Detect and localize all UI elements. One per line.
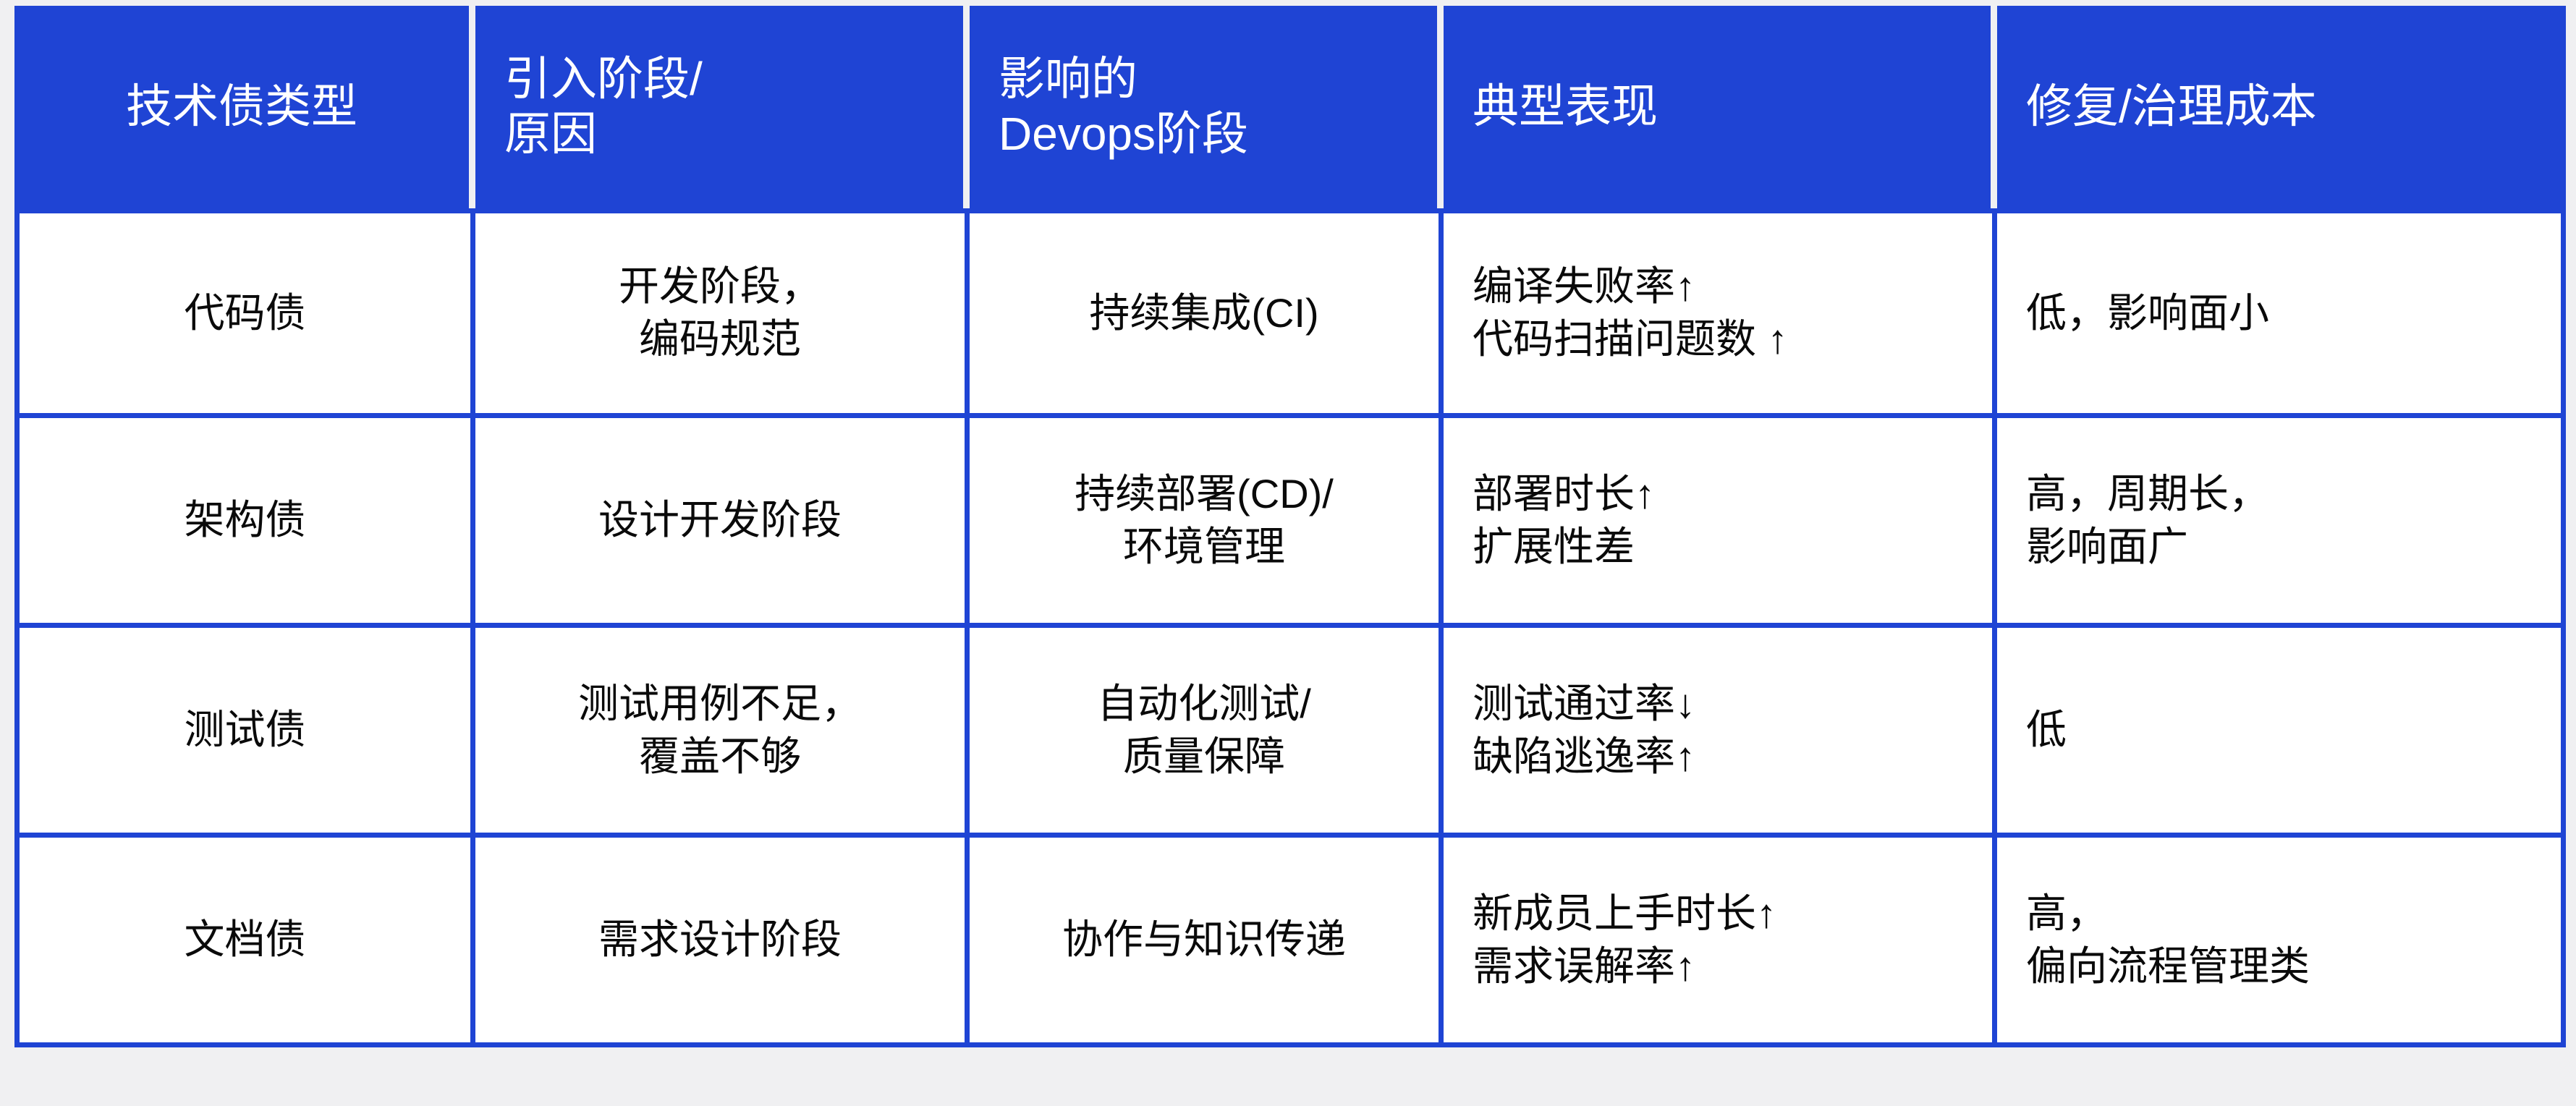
table-header-row: 技术债类型 引入阶段/ 原因 影响的 Devops阶段 典型表现 修复/治理成本 bbox=[14, 6, 2566, 208]
cell-type: 代码债 bbox=[14, 208, 475, 418]
technical-debt-table-container: 技术债类型 引入阶段/ 原因 影响的 Devops阶段 典型表现 修复/治理成本… bbox=[14, 6, 2566, 1091]
cell-symptoms: 测试通过率↓ 缺陷逃逸率↑ bbox=[1444, 628, 1997, 838]
cell-type: 文档债 bbox=[14, 838, 475, 1047]
cell-cost: 低 bbox=[1997, 628, 2566, 838]
cell-symptoms: 编译失败率↑ 代码扫描问题数 ↑ bbox=[1444, 208, 1997, 418]
cell-origin: 设计开发阶段 bbox=[475, 418, 970, 628]
column-header-devops: 影响的 Devops阶段 bbox=[970, 6, 1444, 208]
cell-devops: 自动化测试/ 质量保障 bbox=[970, 628, 1444, 838]
cell-cost: 低，影响面小 bbox=[1997, 208, 2566, 418]
cell-origin: 测试用例不足， 覆盖不够 bbox=[475, 628, 970, 838]
technical-debt-table: 技术债类型 引入阶段/ 原因 影响的 Devops阶段 典型表现 修复/治理成本… bbox=[14, 6, 2566, 1047]
cell-devops: 持续集成(CI) bbox=[970, 208, 1444, 418]
cell-symptoms: 部署时长↑ 扩展性差 bbox=[1444, 418, 1997, 628]
column-header-origin: 引入阶段/ 原因 bbox=[475, 6, 970, 208]
column-header-symptoms: 典型表现 bbox=[1444, 6, 1997, 208]
table-row: 文档债 需求设计阶段 协作与知识传递 新成员上手时长↑ 需求误解率↑ 高， 偏向… bbox=[14, 838, 2566, 1047]
column-header-type: 技术债类型 bbox=[14, 6, 475, 208]
cell-type: 架构债 bbox=[14, 418, 475, 628]
table-row: 代码债 开发阶段， 编码规范 持续集成(CI) 编译失败率↑ 代码扫描问题数 ↑… bbox=[14, 208, 2566, 418]
cell-devops: 持续部署(CD)/ 环境管理 bbox=[970, 418, 1444, 628]
table-header: 技术债类型 引入阶段/ 原因 影响的 Devops阶段 典型表现 修复/治理成本 bbox=[14, 6, 2566, 208]
column-header-cost: 修复/治理成本 bbox=[1997, 6, 2566, 208]
cell-type: 测试债 bbox=[14, 628, 475, 838]
table-row: 测试债 测试用例不足， 覆盖不够 自动化测试/ 质量保障 测试通过率↓ 缺陷逃逸… bbox=[14, 628, 2566, 838]
cell-origin: 开发阶段， 编码规范 bbox=[475, 208, 970, 418]
table-row: 架构债 设计开发阶段 持续部署(CD)/ 环境管理 部署时长↑ 扩展性差 高，周… bbox=[14, 418, 2566, 628]
cell-origin: 需求设计阶段 bbox=[475, 838, 970, 1047]
table-body: 代码债 开发阶段， 编码规范 持续集成(CI) 编译失败率↑ 代码扫描问题数 ↑… bbox=[14, 208, 2566, 1047]
cell-symptoms: 新成员上手时长↑ 需求误解率↑ bbox=[1444, 838, 1997, 1047]
cell-cost: 高，周期长， 影响面广 bbox=[1997, 418, 2566, 628]
cell-cost: 高， 偏向流程管理类 bbox=[1997, 838, 2566, 1047]
cell-devops: 协作与知识传递 bbox=[970, 838, 1444, 1047]
